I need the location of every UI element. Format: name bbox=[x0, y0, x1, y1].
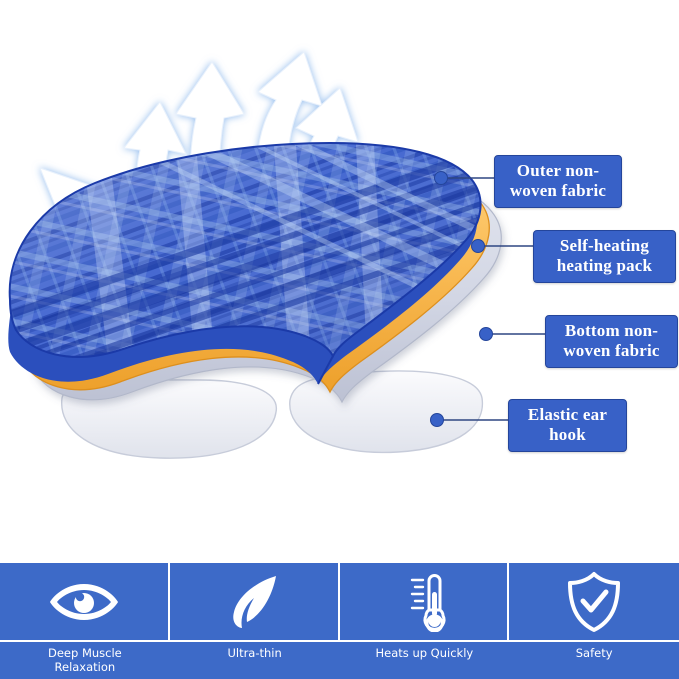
connector-dot-elastic bbox=[431, 414, 444, 427]
shield-check-icon bbox=[566, 571, 622, 633]
feature-label-heats-up-quickly: Heats up Quickly bbox=[376, 646, 474, 660]
feature-label-safety: Safety bbox=[576, 646, 613, 660]
feature-label-cell-4: Safety bbox=[509, 642, 679, 679]
feature-icons-row bbox=[0, 563, 679, 640]
connector-dot-outer bbox=[435, 172, 448, 185]
feature-bar: Deep Muscle Relaxation Ultra-thin Heats … bbox=[0, 563, 679, 679]
feature-label-cell-3: Heats up Quickly bbox=[340, 642, 510, 679]
feature-labels-row: Deep Muscle Relaxation Ultra-thin Heats … bbox=[0, 640, 679, 679]
outer-nonwoven-layer bbox=[0, 1, 573, 410]
feature-label-deep-muscle-relaxation: Deep Muscle Relaxation bbox=[48, 646, 122, 674]
feature-label-cell-1: Deep Muscle Relaxation bbox=[0, 642, 170, 679]
infographic-page: Outer non- woven fabric Self-heating hea… bbox=[0, 0, 679, 679]
callout-outer-nonwoven-fabric: Outer non- woven fabric bbox=[494, 155, 622, 208]
feature-cell-deep-muscle-relaxation bbox=[0, 563, 170, 640]
thermometer-icon bbox=[396, 572, 450, 632]
eye-icon bbox=[48, 578, 120, 626]
connector-dot-selfheating bbox=[472, 240, 485, 253]
callout-bottom-nonwoven-fabric: Bottom non- woven fabric bbox=[545, 315, 678, 368]
feature-cell-heats-up-quickly bbox=[340, 563, 510, 640]
callout-elastic-ear-hook: Elastic ear hook bbox=[508, 399, 627, 452]
eye-mask-layer-diagram: Outer non- woven fabric Self-heating hea… bbox=[0, 0, 679, 563]
feature-cell-safety bbox=[509, 563, 679, 640]
feature-label-cell-2: Ultra-thin bbox=[170, 642, 340, 679]
feature-cell-ultra-thin bbox=[170, 563, 340, 640]
connector-dot-bottom bbox=[480, 328, 493, 341]
feature-label-ultra-thin: Ultra-thin bbox=[227, 646, 281, 660]
callout-self-heating-pack: Self-heating heating pack bbox=[533, 230, 676, 283]
leaf-icon bbox=[226, 574, 282, 630]
